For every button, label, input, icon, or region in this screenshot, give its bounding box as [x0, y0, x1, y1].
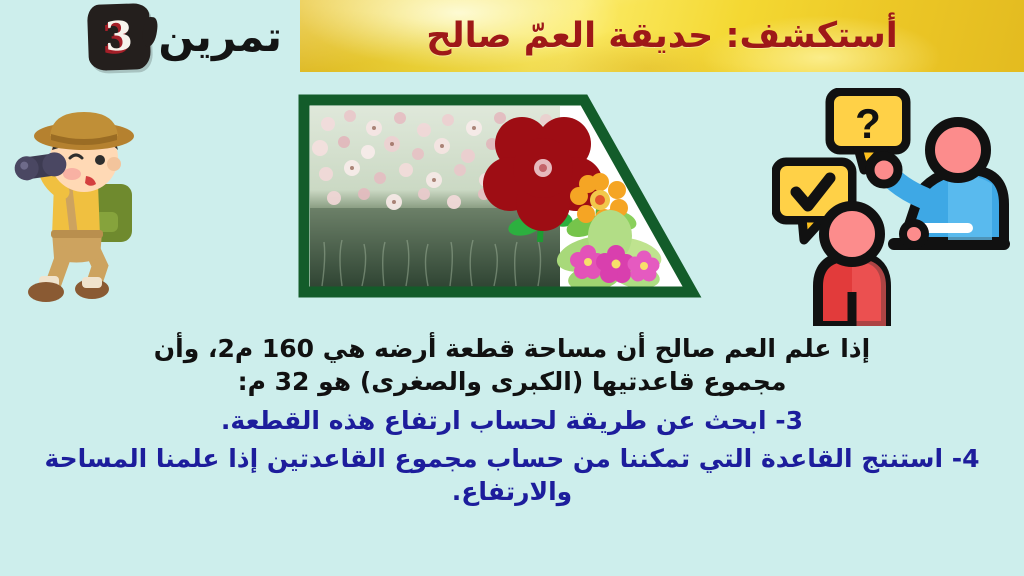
explorer-boy-icon: [10, 92, 160, 307]
two-people-icon: ?: [772, 88, 1016, 326]
slide-root: أستكشف: حديقة العمّ صالح تمرين 3: [0, 0, 1024, 576]
statement-line-1: إذا علم العم صالح أن مساحة قطعة أرضه هي …: [16, 332, 1008, 365]
page-title: أستكشف: حديقة العمّ صالح: [426, 16, 898, 56]
question-list: 3- ابحث عن طريقة لحساب ارتفاع هذه القطعة…: [16, 404, 1008, 509]
people-illustration: ?: [772, 88, 1016, 326]
trapezoid-garden-figure: [288, 86, 708, 308]
exercise-number: 3: [105, 17, 134, 58]
exercise-label: تمرين 3: [88, 4, 282, 70]
exercise-number-badge: 3: [87, 3, 151, 71]
header-band: أستكشف: حديقة العمّ صالح تمرين 3: [0, 0, 1024, 74]
question-mark: ?: [855, 100, 881, 147]
exercise-word: تمرين: [158, 16, 282, 58]
explorer-boy-illustration: [10, 92, 160, 307]
garden-trapezoid: [288, 86, 708, 308]
person-red: [818, 206, 886, 326]
statement-line-2: مجموع قاعدتيها (الكبرى والصغرى) هو 32 م:: [16, 365, 1008, 398]
body-text-block: إذا علم العم صالح أن مساحة قطعة أرضه هي …: [0, 332, 1024, 509]
title-banner: أستكشف: حديقة العمّ صالح: [300, 0, 1024, 72]
question-item-4: 4- استنتج القاعدة التي تمكننا من حساب مج…: [16, 442, 1008, 509]
question-item-3: 3- ابحث عن طريقة لحساب ارتفاع هذه القطعة…: [16, 404, 1008, 438]
